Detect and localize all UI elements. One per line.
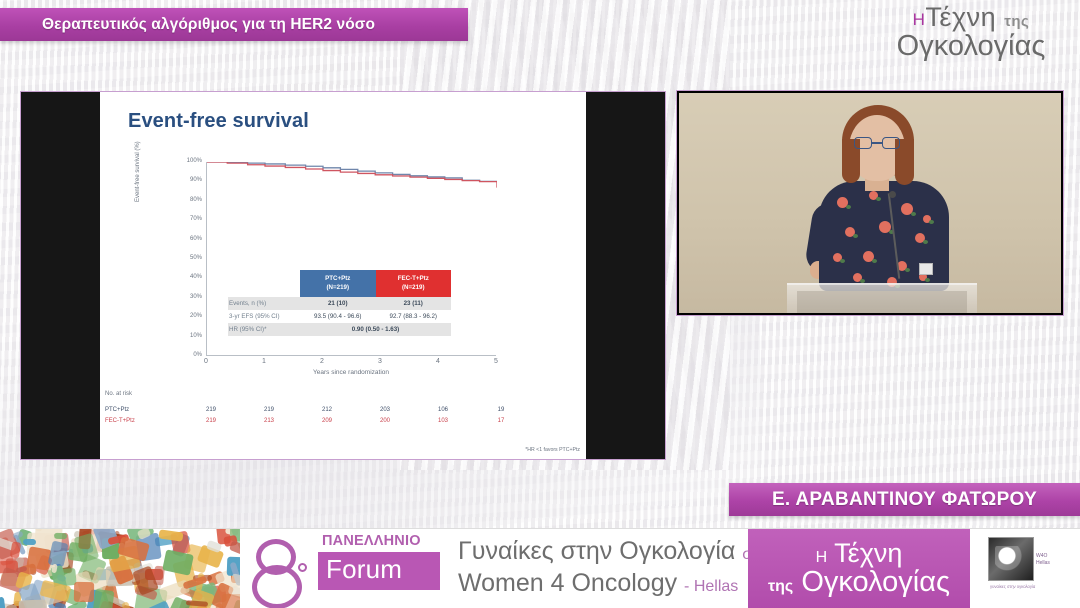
dress-leaf — [840, 259, 845, 263]
top-logo-eta: Η — [913, 10, 926, 29]
stats-table-head: PTC+Ptz (N=219) FEC-T+Ptz (N=219) — [228, 270, 451, 297]
speaker-glasses — [854, 137, 900, 149]
efficacy-summary-table: PTC+Ptz (N=219) FEC-T+Ptz (N=219) Events… — [228, 270, 451, 336]
speaker-name-text: Ε. ΑΡΑΒΑΝΤΙΝΟΥ ΦΑΤΩΡΟΥ — [772, 489, 1037, 511]
artwork-brushstroke — [23, 539, 36, 546]
risk-row-label: FEC-T+Ptz — [105, 418, 135, 424]
stats-table-header-row: PTC+Ptz (N=219) FEC-T+Ptz (N=219) — [228, 270, 451, 297]
stats-table-corner — [228, 270, 300, 297]
stats-value-fec: 92.7 (88.3 - 96.2) — [376, 310, 452, 323]
w4o-mark-subtitle: γυναίκες στην ογκολογία — [990, 584, 1035, 590]
stats-col-header-fec: FEC-T+Ptz (N=219) — [376, 270, 452, 297]
y-axis-tick: 70% — [176, 216, 202, 222]
stats-row-label: HR (95% CI)* — [228, 323, 300, 336]
artwork-brushstroke — [229, 540, 240, 557]
stats-table-body: Events, n (%)21 (10)23 (11)3-yr EFS (95%… — [228, 297, 451, 336]
stats-table-row: HR (95% CI)*0.90 (0.50 - 1.63) — [228, 323, 451, 336]
risk-heading: No. at risk — [105, 391, 132, 397]
x-axis-tick: 3 — [378, 358, 382, 365]
risk-cell: 17 — [498, 418, 505, 424]
risk-cell: 219 — [264, 407, 274, 413]
artwork-brushstroke — [222, 594, 240, 608]
w4o-hellas-mark: W4O Hellas γυναίκες στην ογκολογία — [988, 537, 1046, 601]
podium-shelf — [797, 291, 967, 313]
y-axis-tick: 20% — [176, 313, 202, 319]
dress-leaf — [853, 234, 858, 238]
risk-cell: 212 — [322, 407, 332, 413]
dress-leaf — [872, 259, 877, 263]
dress-leaf — [929, 220, 934, 224]
top-logo-line2: Ογκολογίας — [876, 32, 1066, 61]
y-axis-tick: 40% — [176, 274, 202, 280]
stats-col-ptc-name: PTC+Ptz — [325, 275, 350, 282]
stats-row-label: 3-yr EFS (95% CI) — [228, 310, 300, 323]
top-logo-tis: της — [1004, 13, 1029, 30]
artwork-brushstroke — [74, 582, 94, 603]
microphone-head — [889, 191, 896, 198]
y-axis-tick: 30% — [176, 294, 202, 300]
dress-leaf — [905, 268, 910, 272]
slide-content: Event-free survival Event-free survival … — [100, 92, 586, 459]
stats-table-row: Events, n (%)21 (10)23 (11) — [228, 297, 451, 310]
slide-title-banner-text: Θεραπευτικός αλγόριθμος για τη HER2 νόσο — [0, 16, 375, 34]
dress-leaf — [923, 240, 928, 244]
risk-cell: 19 — [498, 407, 505, 413]
x-axis-label: Years since randomization — [206, 369, 496, 376]
artwork-brushstroke — [93, 589, 115, 608]
edition-number-logo — [252, 537, 322, 603]
congress-title-english-sub: - Hellas — [684, 578, 738, 595]
artwork-brushstroke — [54, 533, 68, 540]
risk-cell: 200 — [380, 418, 390, 424]
artwork-brushstroke — [162, 550, 194, 577]
y-axis-tick: 10% — [176, 333, 202, 339]
risk-cell: 219 — [206, 407, 216, 413]
risk-cell: 106 — [438, 407, 448, 413]
curve-fec-t-ptz — [207, 162, 497, 188]
dress-leaf — [925, 278, 930, 282]
artwork-brushstroke — [10, 541, 22, 559]
risk-cell: 103 — [438, 418, 448, 424]
x-axis-tick: 2 — [320, 358, 324, 365]
y-axis-tick: 0% — [176, 352, 202, 358]
dress-leaf — [876, 197, 881, 201]
panellinio-forum-block: ΠΑΝΕΛΛΗΝΙΟ Forum — [318, 533, 440, 590]
risk-cell: 209 — [322, 418, 332, 424]
conference-artwork — [0, 529, 240, 608]
stats-col-ptc-n: (N=219) — [326, 284, 349, 291]
stats-value-ptc: 21 (10) — [300, 297, 376, 310]
stats-value-fec: 23 (11) — [376, 297, 452, 310]
stats-row-label: Events, n (%) — [228, 297, 300, 310]
slide-pillarbox-right — [586, 92, 665, 459]
slide-heading: Event-free survival — [128, 110, 309, 133]
y-axis-tick: 100% — [176, 158, 202, 164]
risk-cell: 203 — [380, 407, 390, 413]
eight-lower-ring — [252, 565, 302, 608]
x-axis-tick: 4 — [436, 358, 440, 365]
top-logo-techni: Τέχνη — [925, 2, 996, 32]
footer-logo-tis: της — [768, 578, 793, 595]
speaker-name-bar: Ε. ΑΡΑΒΑΝΤΙΝΟΥ ΦΑΤΩΡΟΥ — [729, 483, 1080, 516]
risk-cell: 219 — [206, 418, 216, 424]
footer-brand-logo: Η Τέχνη της Ογκολογίας — [748, 529, 970, 608]
w4o-mark-title: W4O Hellas — [1036, 553, 1050, 566]
slide-pillarbox-left — [21, 92, 100, 459]
dress-leaf — [911, 212, 916, 216]
slide-title-banner: Θεραπευτικός αλγόριθμος για τη HER2 νόσο — [0, 8, 468, 41]
congress-title-english-main: Women 4 Oncology — [458, 569, 677, 597]
risk-row-label: PTC+Ptz — [105, 407, 129, 413]
footer-logo-line1: Η Τέχνη — [768, 540, 950, 568]
y-axis-tick: 90% — [176, 177, 202, 183]
footer-logo-line2: της Ογκολογίας — [768, 568, 950, 598]
degree-mark-icon — [298, 563, 307, 572]
risk-cell: 213 — [264, 418, 274, 424]
x-axis-tick: 5 — [494, 358, 498, 365]
x-axis-tick: 0 — [204, 358, 208, 365]
podium-device — [919, 263, 933, 275]
footer-logo-techni: Τέχνη — [834, 538, 902, 568]
y-axis-tick: 50% — [176, 255, 202, 261]
footer-logo-ogkologias: Ογκολογίας — [801, 566, 950, 598]
footer-bar: ΠΑΝΕΛΛΗΝΙΟ Forum Γυναίκες στην Ογκολογία… — [0, 528, 1080, 608]
stats-col-fec-name: FEC-T+Ptz — [398, 275, 429, 282]
stats-value-ptc: 93.5 (90.4 - 96.6) — [300, 310, 376, 323]
slide-footnote: *HR <1 favors PTC+Ptz — [525, 447, 580, 453]
artwork-brushstroke — [19, 600, 47, 608]
top-logo-line1: ΗΤέχνη της — [876, 4, 1066, 31]
w4o-mark-image — [988, 537, 1034, 581]
speaker-video-panel[interactable] — [676, 90, 1064, 316]
x-axis-tick: 1 — [262, 358, 266, 365]
speaker-video-frame — [679, 93, 1061, 313]
y-axis-label: Event-free survival (%) — [135, 188, 141, 202]
y-axis-tick: 60% — [176, 236, 202, 242]
y-axis-tick: 80% — [176, 197, 202, 203]
congress-title-greek-main: Γυναίκες στην Ογκολογία — [458, 537, 735, 565]
stats-col-header-ptc: PTC+Ptz (N=219) — [300, 270, 376, 297]
top-right-brand-logo: ΗΤέχνη της Ογκολογίας — [876, 4, 1066, 66]
stats-col-fec-n: (N=219) — [402, 284, 425, 291]
footer-logo-eta: Η — [816, 549, 828, 566]
presentation-slide[interactable]: Event-free survival Event-free survival … — [20, 91, 666, 460]
dress-leaf — [846, 205, 851, 209]
panellinio-label: ΠΑΝΕΛΛΗΝΙΟ — [318, 533, 440, 549]
stats-table-row: 3-yr EFS (95% CI)93.5 (90.4 - 96.6)92.7 … — [228, 310, 451, 323]
stats-row-span-value: 0.90 (0.50 - 1.63) — [300, 323, 451, 336]
forum-label: Forum — [318, 552, 440, 590]
